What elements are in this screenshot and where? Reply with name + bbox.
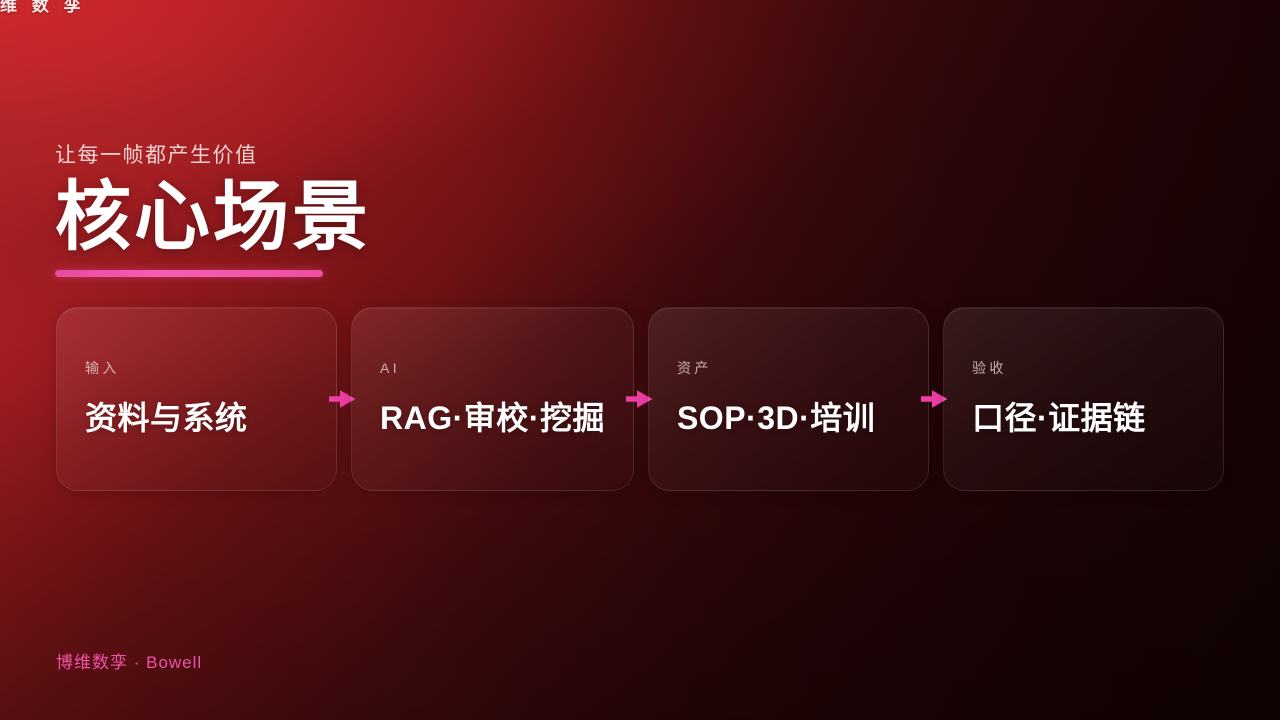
card-title: SOP·3D·培训	[677, 401, 900, 436]
footer-brand: 博维数孪 · Bowell	[56, 648, 202, 673]
slide-canvas: 维 数 孪 让每一帧都产生价值 核心场景 输入 资料与系统 AI RAG·审校·…	[0, 0, 1280, 720]
card-title: RAG·审校·挖掘	[380, 401, 605, 436]
card-label: 资产	[677, 361, 900, 375]
card-label: 验收	[972, 361, 1195, 375]
title-underline-rule	[55, 270, 323, 277]
card-title: 资料与系统	[85, 401, 308, 436]
pipeline-card-row: 输入 资料与系统 AI RAG·审校·挖掘 资产 SOP·3D·培训	[56, 307, 1224, 491]
headline-block: 让每一帧都产生价值 核心场景	[55, 143, 371, 277]
pipeline-card-input[interactable]: 输入 资料与系统	[56, 307, 337, 491]
page-title: 核心场景	[55, 178, 371, 258]
headline-kicker: 让每一帧都产生价值	[55, 143, 371, 168]
pipeline-card-ai[interactable]: AI RAG·审校·挖掘	[351, 307, 634, 491]
card-label: AI	[380, 361, 605, 375]
card-label: 输入	[85, 361, 308, 375]
pipeline-card-assets[interactable]: 资产 SOP·3D·培训	[648, 307, 929, 491]
pipeline-card-acceptance[interactable]: 验收 口径·证据链	[943, 307, 1224, 491]
brand-watermark: 维 数 孪	[0, 0, 85, 16]
card-title: 口径·证据链	[972, 401, 1195, 436]
